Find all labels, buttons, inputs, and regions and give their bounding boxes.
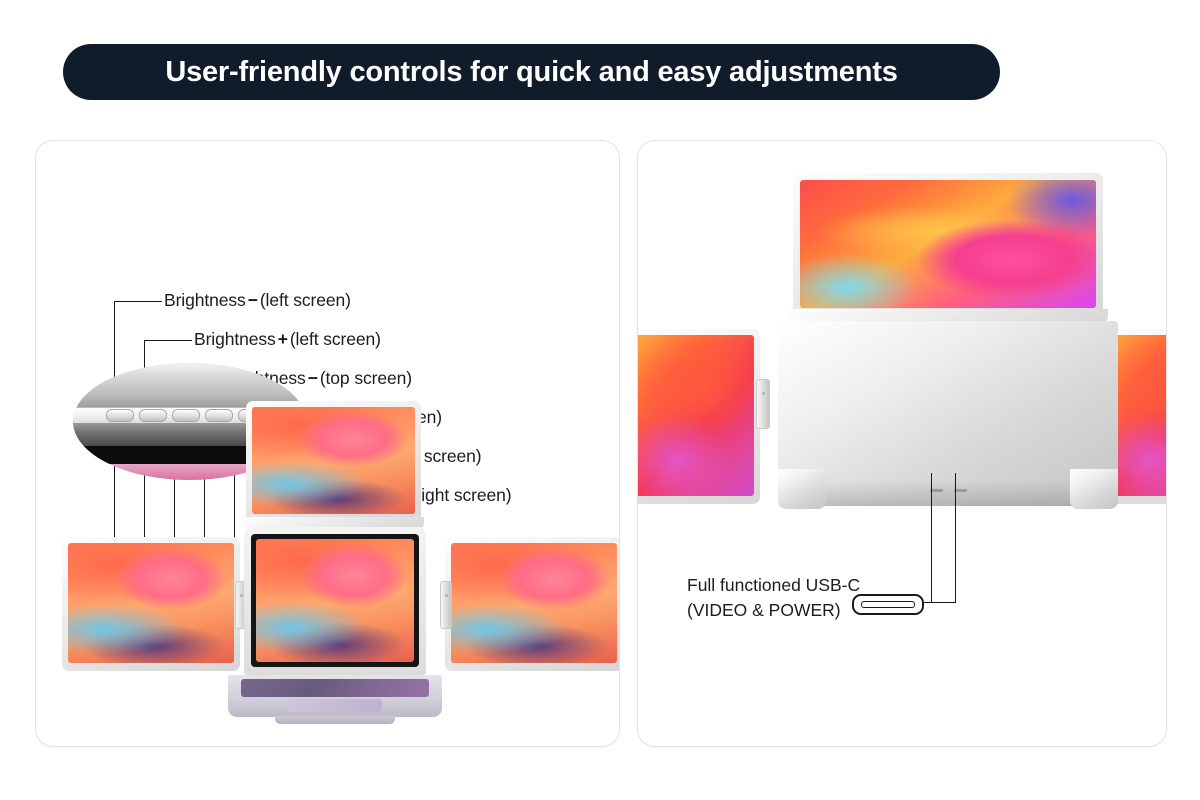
laptop-base <box>228 675 442 717</box>
callout-1-text: Brightness <box>164 290 246 310</box>
right-monitor-screen <box>451 543 617 663</box>
callout-label-1: Brightness−(left screen) <box>164 290 351 311</box>
callout-2-target: (left screen) <box>290 329 381 349</box>
left-monitor-rear-hinge <box>756 379 770 429</box>
top-monitor-rear-screen <box>800 180 1096 308</box>
brightness-button-3[interactable] <box>172 409 200 422</box>
usb-c-port-icon <box>852 594 924 615</box>
callout-3-sign: − <box>306 368 320 388</box>
usb-caption-line2: (VIDEO & POWER) <box>687 598 860 623</box>
left-monitor-rear <box>637 329 760 504</box>
top-monitor <box>246 401 421 526</box>
rear-chassis-foot-left <box>778 469 826 509</box>
laptop-foot <box>275 716 395 724</box>
rear-chassis-shadow <box>778 480 1118 506</box>
left-monitor-rear-screen <box>637 335 754 496</box>
callout-3-target: (top screen) <box>320 368 412 388</box>
page-root: User-friendly controls for quick and eas… <box>0 0 1200 800</box>
usb-leader-line-h <box>920 602 956 603</box>
callout-1-target: (left screen) <box>260 290 351 310</box>
laptop-keyboard[interactable] <box>241 679 429 697</box>
usb-leader-line-left <box>931 473 932 603</box>
right-monitor <box>445 537 620 671</box>
laptop-lid <box>244 527 426 675</box>
brightness-button-2[interactable] <box>139 409 167 422</box>
top-monitor-rear <box>793 173 1103 318</box>
right-panel: Full functioned USB-C (VIDEO & POWER) <box>637 140 1167 747</box>
leader-line-h-1 <box>114 301 162 302</box>
right-monitor-hinge <box>440 581 452 629</box>
brightness-button-4[interactable] <box>205 409 233 422</box>
top-monitor-screen <box>252 407 415 514</box>
usb-caption-line1: Full functioned USB-C <box>687 573 860 598</box>
rear-chassis <box>778 321 1118 506</box>
callout-1-sign: − <box>246 290 260 310</box>
leader-line-h-2 <box>144 340 192 341</box>
usb-leader-line-right <box>955 473 956 603</box>
callout-2-text: Brightness <box>194 329 276 349</box>
callout-6-target: (right screen) <box>410 485 512 505</box>
brightness-button-1[interactable] <box>106 409 134 422</box>
rear-chassis-foot-right <box>1070 469 1118 509</box>
left-monitor-screen <box>68 543 234 663</box>
page-title: User-friendly controls for quick and eas… <box>165 56 897 89</box>
callout-2-sign: + <box>276 329 290 349</box>
left-monitor <box>62 537 240 671</box>
page-title-banner: User-friendly controls for quick and eas… <box>63 44 1000 100</box>
laptop-screen <box>256 539 414 662</box>
callout-label-2: Brightness+(left screen) <box>194 329 381 350</box>
left-panel: Brightness−(left screen) Brightness+(lef… <box>35 140 620 747</box>
laptop-bezel <box>251 534 419 667</box>
laptop-trackpad[interactable] <box>288 699 382 712</box>
usb-caption: Full functioned USB-C (VIDEO & POWER) <box>687 573 860 624</box>
